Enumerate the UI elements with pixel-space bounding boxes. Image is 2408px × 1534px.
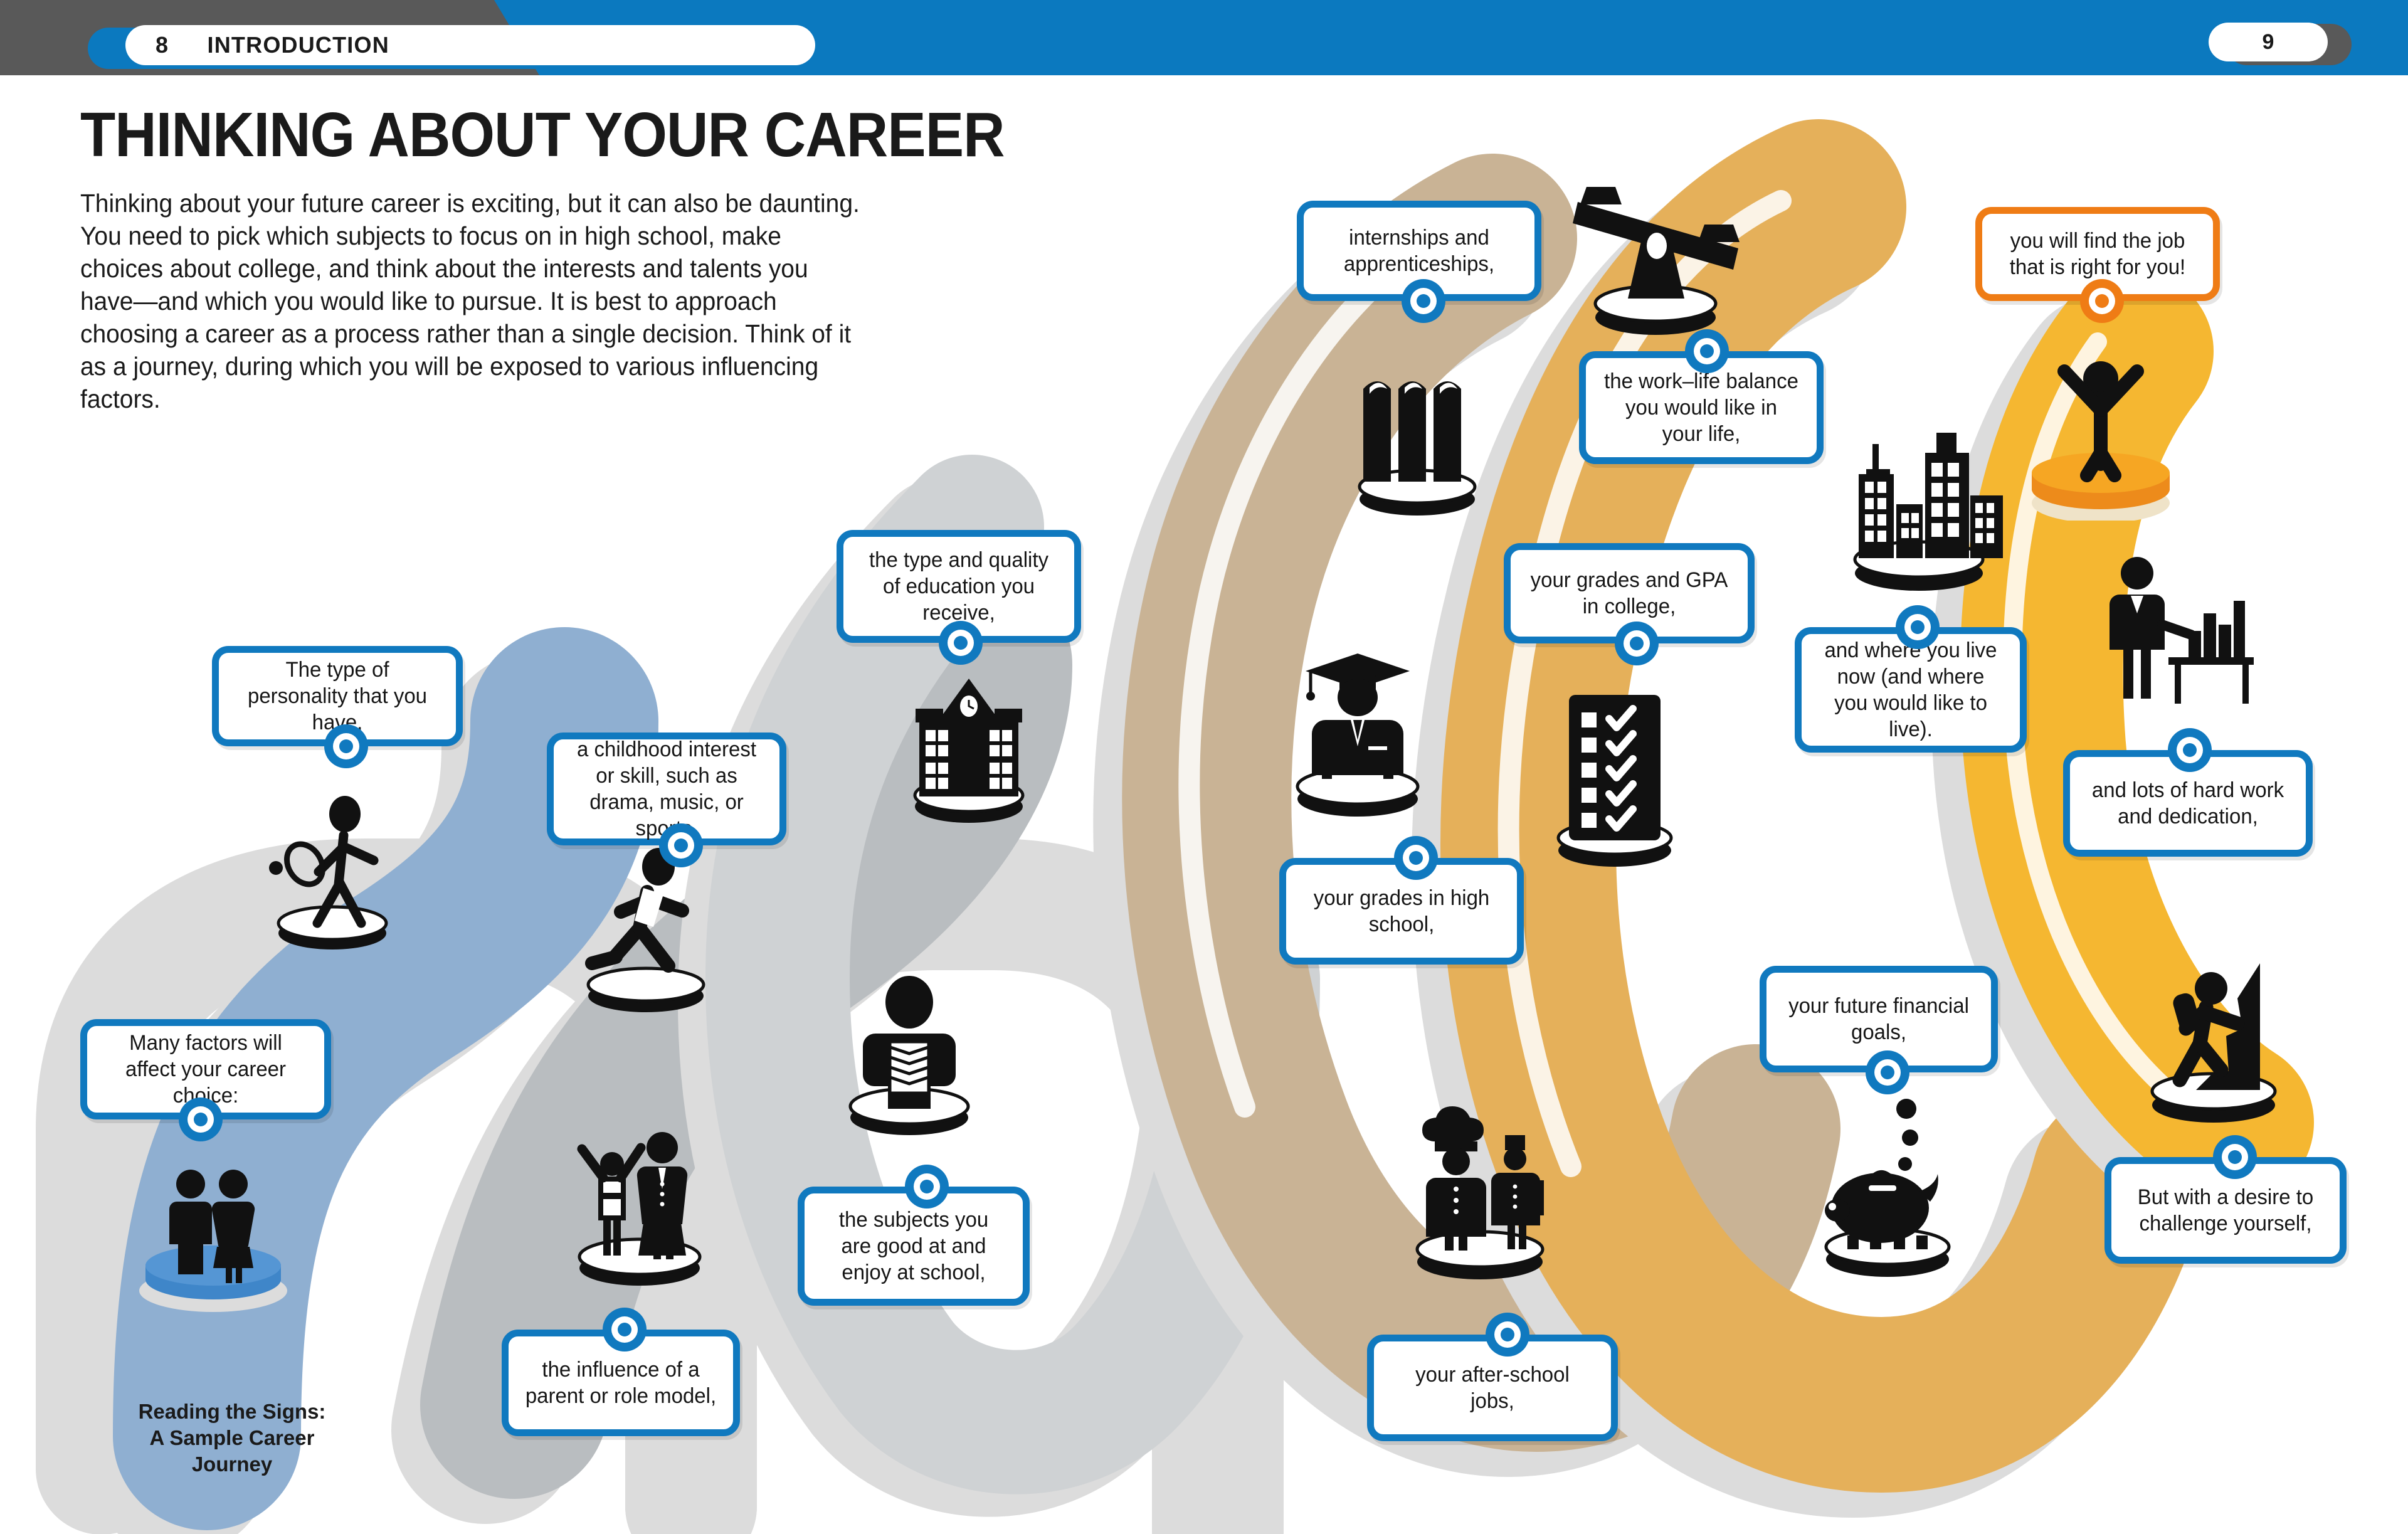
seesaw-balance-icon [1555, 176, 1756, 345]
callout-dot-marker [1615, 622, 1659, 665]
callout-text: your future financial goals, [1783, 993, 1975, 1045]
callout-dot-marker [939, 621, 983, 665]
intro-paragraph: Thinking about your future career is exc… [80, 187, 867, 415]
callout-high-school-grades[interactable]: your grades in high school, [1279, 858, 1524, 965]
callout-after-school-jobs[interactable]: your after-school jobs, [1367, 1335, 1618, 1441]
couple-icon [125, 1154, 301, 1317]
callout-dot-marker [1486, 1313, 1529, 1357]
page-header: 8 INTRODUCTION 9 [0, 0, 2408, 75]
figure-caption: Reading the Signs: A Sample Career Journ… [119, 1399, 345, 1478]
callout-dot-marker [905, 1165, 949, 1209]
callout-where-you-live[interactable]: and where you live now (and where you wo… [1795, 627, 2027, 753]
graduate-icon [1273, 640, 1442, 822]
piggy-bank-icon [1800, 1091, 1975, 1279]
running-child-icon [564, 834, 727, 1022]
callout-text: your grades and GPA in college, [1528, 567, 1731, 620]
callout-personality[interactable]: The type of personality that you have, [212, 646, 463, 746]
callout-dot-marker [2080, 279, 2124, 323]
callout-dot-marker [603, 1308, 647, 1352]
caption-line-2: A Sample Career Journey [119, 1425, 345, 1478]
callout-work-life-balance[interactable]: the work–life balance you would like in … [1579, 351, 1824, 464]
callout-financial-goals[interactable]: your future financial goals, [1760, 966, 1998, 1072]
page-title: THINKING ABOUT YOUR CAREER [80, 99, 1005, 171]
callout-education-quality[interactable]: the type and quality of education you re… [837, 530, 1081, 643]
callout-hard-work[interactable]: and lots of hard work and dedication, [2063, 750, 2313, 857]
callout-challenge-yourself[interactable]: But with a desire to challenge yourself, [2104, 1157, 2347, 1264]
callout-text: your grades in high school, [1303, 885, 1500, 938]
callout-text: you will find the job that is right for … [1999, 228, 2196, 280]
cityscape-icon [1831, 420, 2007, 596]
checklist-icon [1536, 677, 1693, 872]
callout-text: and lots of hard work and dedication, [2087, 777, 2289, 830]
callout-text: the subjects you are good at and enjoy a… [821, 1207, 1006, 1286]
callout-dot-marker [2213, 1135, 2257, 1179]
callout-dot-marker [1896, 605, 1940, 649]
callout-dot-marker [324, 724, 368, 768]
page-number-right: 9 [2263, 30, 2274, 55]
callout-many-factors[interactable]: Many factors will affect your career cho… [80, 1019, 331, 1119]
student-reading-icon [828, 966, 991, 1141]
callout-text: the work–life balance you would like in … [1603, 368, 1800, 447]
callout-dot-marker [1866, 1050, 1909, 1094]
parent-and-child-icon [552, 1104, 727, 1292]
callout-dot-marker [2168, 728, 2212, 772]
callout-text: internships and apprenticeships, [1321, 225, 1518, 277]
callout-text: the influence of a parent or role model, [525, 1357, 717, 1409]
callout-dot-marker [659, 823, 703, 867]
callout-dot-marker [179, 1098, 223, 1141]
callout-text: the type and quality of education you re… [860, 547, 1057, 626]
callout-text: your after-school jobs, [1391, 1362, 1594, 1414]
celebrating-person-icon [2007, 332, 2195, 521]
office-worker-icon [2088, 546, 2264, 709]
callout-right-job[interactable]: you will find the job that is right for … [1975, 207, 2220, 301]
mountain-climber-icon [2126, 941, 2301, 1129]
callout-childhood-interest[interactable]: a childhood interest or skill, such as d… [547, 733, 786, 845]
books-icon [1336, 351, 1499, 521]
callout-dot-marker [1685, 329, 1729, 373]
callout-text: The type of personality that you have, [236, 657, 439, 736]
callout-dot-marker [1394, 836, 1438, 880]
page-number-pill: 9 [2209, 23, 2328, 61]
callout-text: Many factors will affect your career cho… [104, 1030, 307, 1109]
callout-internships[interactable]: internships and apprenticeships, [1297, 201, 1541, 301]
section-label: INTRODUCTION [208, 32, 389, 58]
caption-line-1: Reading the Signs: [119, 1399, 345, 1425]
callout-text: and where you live now (and where you wo… [1819, 637, 2004, 743]
school-building-icon [890, 665, 1047, 828]
callout-dot-marker [1402, 279, 1445, 323]
header-running-head: 8 INTRODUCTION [125, 25, 815, 65]
callout-text: But with a desire to challenge yourself, [2128, 1184, 2323, 1237]
callout-subjects[interactable]: the subjects you are good at and enjoy a… [798, 1187, 1030, 1306]
callout-role-model[interactable]: the influence of a parent or role model, [502, 1330, 740, 1436]
callout-text: a childhood interest or skill, such as d… [571, 736, 763, 842]
tennis-player-icon [251, 784, 414, 960]
callout-college-gpa[interactable]: your grades and GPA in college, [1504, 543, 1755, 643]
page-number-left: 8 [156, 32, 169, 58]
chefs-icon [1392, 1091, 1568, 1286]
